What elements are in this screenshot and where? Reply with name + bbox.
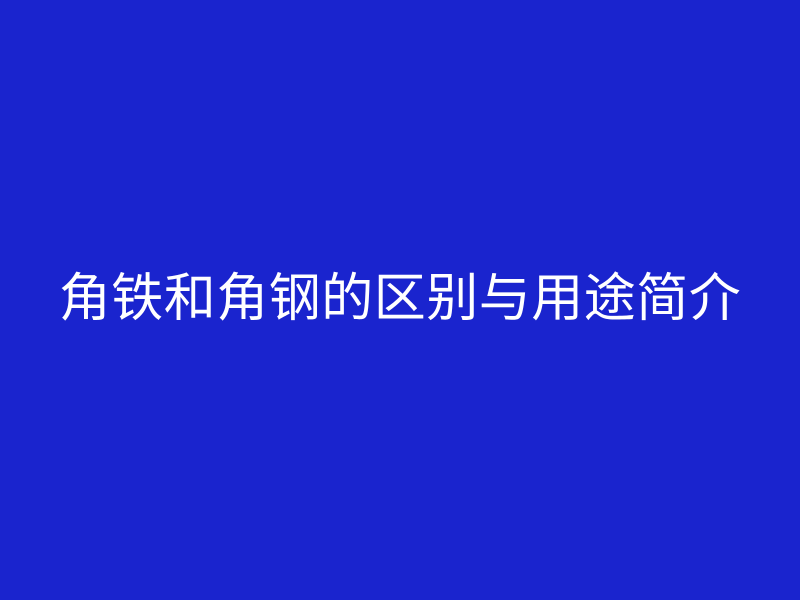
page-title: 角铁和角钢的区别与用途简介 — [24, 271, 776, 328]
title-block: 角铁和角钢的区别与用途简介 — [0, 271, 800, 328]
slide-canvas: 角铁和角钢的区别与用途简介 — [0, 0, 800, 600]
